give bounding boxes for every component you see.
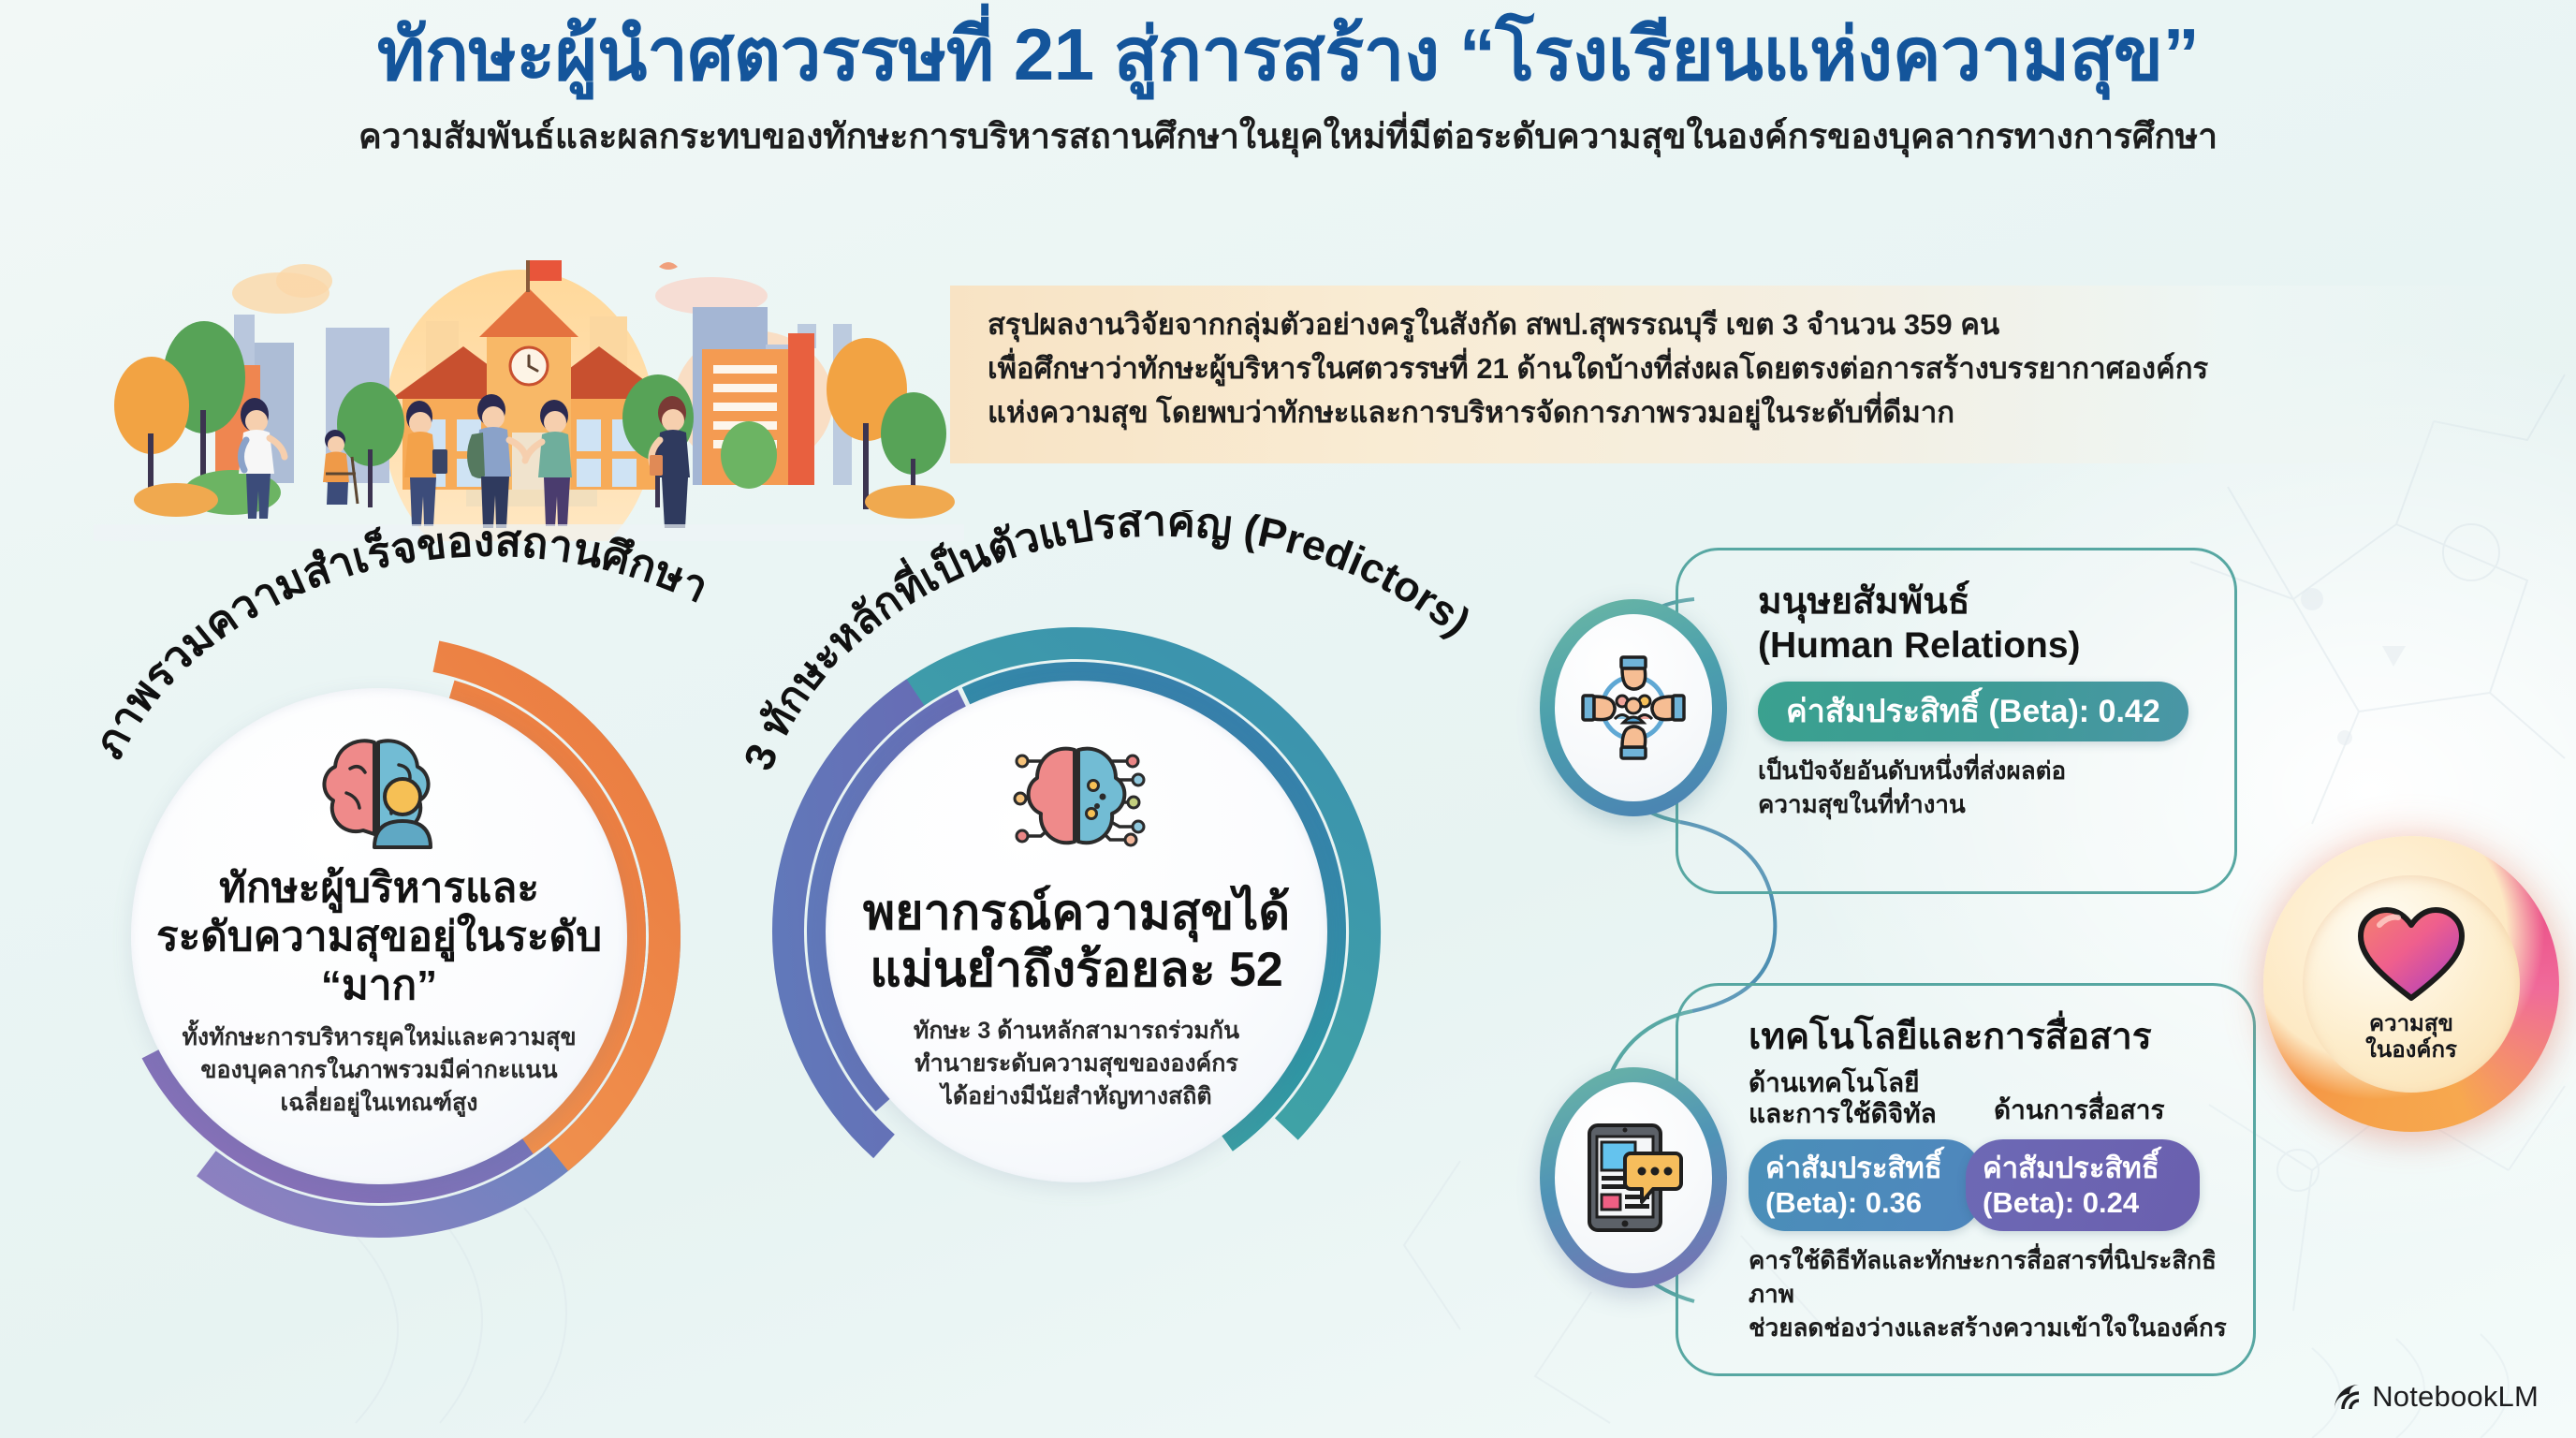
predictors-note-line-1: ทักษะ 3 ด้านหลักสามารถร่วมกัน — [914, 1015, 1239, 1048]
human-relations-title-line-2: (Human Relations) — [1758, 624, 2235, 668]
brain-person-icon — [309, 731, 449, 851]
heart-icon — [2355, 904, 2467, 1005]
handshake-teamwork-icon — [1577, 652, 1690, 764]
overview-note-line-3: เฉลี่ยอยู่ในเทณฑ์สูง — [182, 1087, 576, 1120]
happiness-badge-line-2: ในองค์กร — [2365, 1037, 2457, 1064]
summary-box: สรุปผลงานวิจัยจากกลุ่มตัวอย่างครูในสังกั… — [950, 286, 2541, 463]
happiness-badge-line-1: ความสุข — [2365, 1011, 2457, 1037]
human-relations-icon-bubble — [1540, 599, 1727, 816]
technology-beta-pill: ค่าสัมประสิทธิ์ (Beta): 0.36 — [1749, 1139, 1983, 1231]
school-community-illustration — [94, 223, 964, 541]
technology-sub-label-line-2: และการใช้ดิจิทัล — [1749, 1098, 1983, 1130]
human-relations-note-line-2: ความสุขในที่ทำงาน — [1758, 788, 2235, 822]
technology-icon-bubble — [1540, 1067, 1727, 1288]
technology-communication-title: เทคโนโลยีและการสื่อสาร — [1749, 1016, 2249, 1060]
predictors-note-line-2: ทำนายระดับความสุขขององค์กร — [914, 1048, 1239, 1080]
technology-communication-content: เทคโนโลยีและการสื่อสาร ด้านเทคโนโลยี และ… — [1749, 1016, 2249, 1345]
notebooklm-icon — [2331, 1381, 2363, 1413]
technology-sub-label-line-1: ด้านเทคโนโลยี — [1749, 1067, 1983, 1099]
overview-heading-line-2: ระดับความสุขอยู่ในระดับ — [156, 913, 602, 961]
page-header: ทักษะผู้นำศตวรรษที่ 21 สู่การสร้าง “โรงเ… — [0, 17, 2576, 164]
brain-circuit-icon — [998, 733, 1155, 864]
communication-beta-pill: ค่าสัมประสิทธิ์ (Beta): 0.24 — [1966, 1139, 2200, 1231]
communication-beta-line-2: (Beta): 0.24 — [1983, 1185, 2183, 1220]
predictors-circle: พยากรณ์ความสุขได้ แม่นยำถึงร้อยละ 52 ทัก… — [768, 623, 1385, 1240]
human-relations-beta-pill: ค่าสัมประสิทธิ์ (Beta): 0.42 — [1758, 682, 2188, 742]
predictors-heading-line-1: พยากรณ์ความสุขได้ — [863, 885, 1290, 942]
summary-line-3: แห่งความสุข โดยพบว่าทักษะและการบริหารจัด… — [988, 390, 2541, 434]
overview-heading-line-3: “มาก” — [156, 961, 602, 1010]
tablet-chat-icon — [1578, 1118, 1689, 1238]
page-subtitle: ความสัมพันธ์และผลกระทบของทักษะการบริหารส… — [0, 109, 2576, 164]
notebooklm-watermark: NotebookLM — [2331, 1380, 2539, 1414]
technology-note-line-1: คารใช้ดิธีทัลและทักษะการสื่อสารที่นิประส… — [1749, 1244, 2249, 1312]
human-relations-title-line-1: มนุษยสัมพันธ์ — [1758, 580, 2235, 624]
human-relations-note-line-1: เป็นปัจจัยอันดับหนึ่งที่ส่งผลต่อ — [1758, 755, 2235, 788]
technology-beta-line-2: (Beta): 0.36 — [1765, 1185, 1966, 1220]
happiness-badge: ความสุข ในองค์กร — [2263, 836, 2559, 1132]
predictors-note-line-3: ได้อย่างมีนัยสำหัญทางสถิติ — [914, 1080, 1239, 1113]
overview-note-line-2: ของบุคลากรในภาพรวมมีค่ากะแนน — [182, 1054, 576, 1087]
predictors-heading-line-2: แม่นยำถึงร้อยละ 52 — [863, 942, 1290, 999]
page-title: ทักษะผู้นำศตวรรษที่ 21 สู่การสร้าง “โรงเ… — [0, 17, 2576, 94]
summary-line-2: เพื่อศึกษาว่าทักษะผู้บริหารในศตวรรษที่ 2… — [988, 346, 2541, 390]
technology-beta-line-1: ค่าสัมประสิทธิ์ — [1765, 1151, 1966, 1185]
overview-heading-line-1: ทักษะผู้บริหารและ — [156, 864, 602, 913]
overview-circle: ทักษะผู้บริหารและ ระดับความสุขอยู่ในระดั… — [75, 632, 683, 1240]
communication-sub-label: ด้านการสื่อสาร — [1994, 1094, 2228, 1126]
summary-line-1: สรุปผลงานวิจัยจากกลุ่มตัวอย่างครูในสังกั… — [988, 302, 2541, 346]
technology-note-line-2: ช่วยลดช่องว่างและสร้างความเข้าใจในองค์กร — [1749, 1312, 2249, 1345]
overview-note-line-1: ทั้งทักษะการบริหารยุคใหม่และความสุข — [182, 1021, 576, 1054]
human-relations-content: มนุษยสัมพันธ์ (Human Relations) ค่าสัมปร… — [1758, 580, 2235, 822]
communication-beta-line-1: ค่าสัมประสิทธิ์ — [1983, 1151, 2183, 1185]
notebooklm-label: NotebookLM — [2372, 1380, 2539, 1414]
